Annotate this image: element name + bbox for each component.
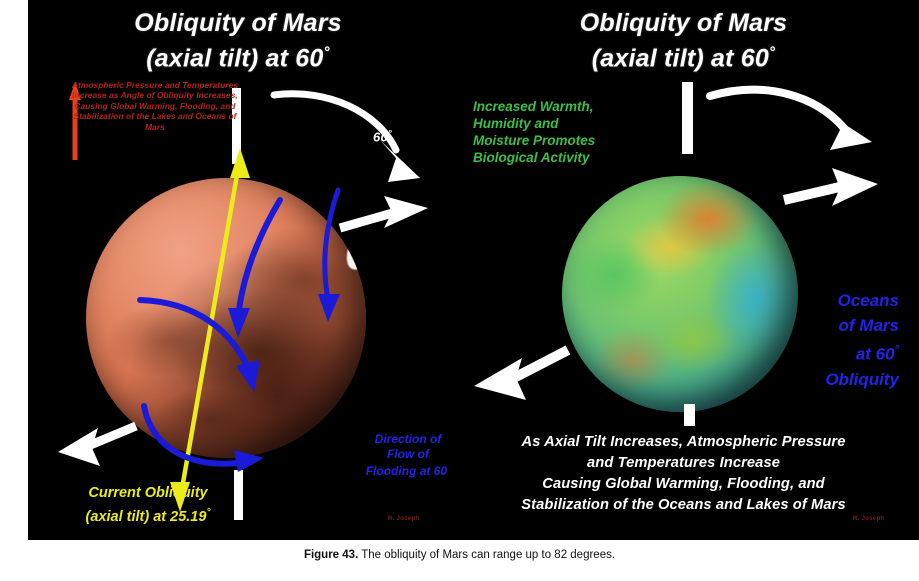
degree-symbol: ° [388, 128, 392, 138]
bottom-caption-line3: Causing Global Warming, Flooding, and [448, 474, 919, 495]
figure-image: Obliquity of Mars (axial tilt) at 60° At… [28, 0, 919, 540]
flow-direction-label: Direction of Flow of Flooding at 60° [348, 432, 448, 479]
white-arrow-lower-left [58, 426, 136, 466]
red-note-text: Atmospheric Pressure and Temperatures In… [66, 80, 244, 132]
flow-label-line2: Flow of [348, 447, 448, 462]
angle-label-60: 60° [373, 128, 392, 144]
figure-caption: Figure 43. The obliquity of Mars can ran… [0, 549, 919, 561]
right-title-line1: Obliquity of Mars [448, 8, 919, 38]
green-note-line2: Humidity and [473, 115, 653, 132]
degree-symbol: ° [206, 507, 210, 518]
oceans-line3: at 60° [749, 338, 899, 367]
mars-globe-red [86, 178, 366, 458]
left-title-line1: Obliquity of Mars [28, 8, 448, 38]
bottom-caption-line4: Stabilization of the Oceans and Lakes of… [448, 495, 919, 516]
white-curved-arrow-top [274, 94, 420, 182]
oceans-line4: Obliquity [749, 367, 899, 392]
figure-page: Obliquity of Mars (axial tilt) at 60° At… [0, 0, 919, 581]
green-note-line1: Increased Warmth, [473, 98, 653, 115]
oceans-of-mars-label: Oceans of Mars at 60° Obliquity [749, 288, 899, 392]
current-obliquity-label: Current Obliquity (axial tilt) at 25.19° [48, 484, 248, 527]
vertical-axis-bar-top [682, 82, 693, 154]
figure-caption-label: Figure 43. [304, 549, 358, 561]
current-obliquity-line1: Current Obliquity [48, 484, 248, 503]
oceans-line2: of Mars [749, 313, 899, 338]
current-obliquity-line2: (axial tilt) at 25.19° [48, 503, 248, 527]
artist-signature: R. Joseph [388, 516, 419, 522]
polar-ice-cap [344, 228, 366, 272]
white-arrow-right [340, 196, 428, 228]
right-panel: Obliquity of Mars (axial tilt) at 60° [448, 0, 919, 540]
artist-signature: R. Joseph [853, 516, 884, 522]
flow-label-line1: Direction of [348, 432, 448, 447]
oceans-line1: Oceans [749, 288, 899, 313]
green-note-text: Increased Warmth, Humidity and Moisture … [473, 98, 653, 166]
degree-symbol: ° [895, 344, 899, 356]
bottom-caption-line1: As Axial Tilt Increases, Atmospheric Pre… [448, 432, 919, 453]
left-panel: Obliquity of Mars (axial tilt) at 60° At… [28, 0, 448, 540]
figure-caption-text: The obliquity of Mars can range up to 82… [358, 549, 615, 561]
vertical-axis-bar-bottom [684, 404, 695, 426]
left-panel-title: Obliquity of Mars (axial tilt) at 60° [28, 8, 448, 73]
degree-symbol: ° [324, 44, 330, 61]
left-title-line2: (axial tilt) at 60° [28, 38, 448, 73]
flow-label-line3: Flooding at 60° [348, 461, 448, 479]
degree-symbol: ° [769, 44, 775, 61]
white-curved-arrow-top-right [710, 90, 872, 150]
right-title-line2: (axial tilt) at 60° [448, 38, 919, 73]
green-note-line3: Moisture Promotes [473, 132, 653, 149]
green-note-line4: Biological Activity [473, 149, 653, 166]
right-panel-title: Obliquity of Mars (axial tilt) at 60° [448, 8, 919, 73]
white-arrow-lower-left [474, 350, 568, 400]
white-arrow-right-middle [784, 168, 878, 206]
bottom-caption-line2: and Temperatures Increase [448, 453, 919, 474]
bottom-caption-text: As Axial Tilt Increases, Atmospheric Pre… [448, 432, 919, 516]
